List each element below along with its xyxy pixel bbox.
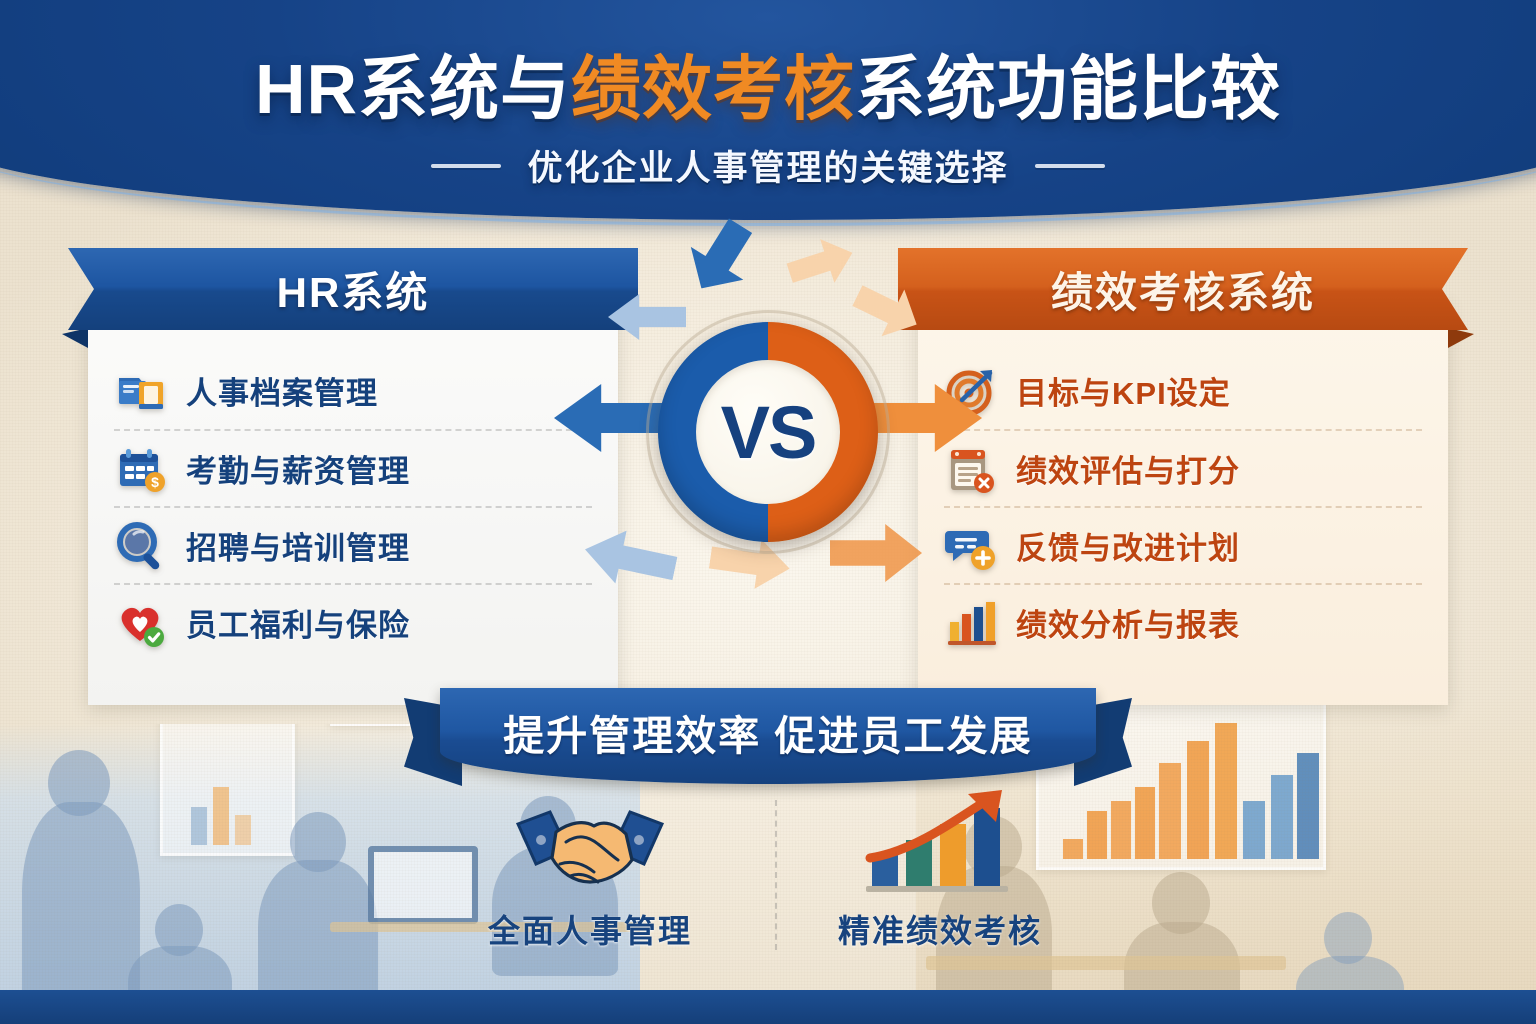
list-item[interactable]: 目标与KPI设定 xyxy=(944,352,1422,429)
feature-hr-management[interactable]: 全面人事管理 xyxy=(440,790,740,952)
hr-system-feature-list: 人事档案管理 $ xyxy=(88,352,618,660)
chart-bar xyxy=(1297,753,1319,859)
poster-bar xyxy=(235,815,251,845)
hr-system-ribbon-label: HR系统 xyxy=(277,259,430,320)
list-item-label: 人事档案管理 xyxy=(186,368,378,413)
folder-files-icon xyxy=(114,364,168,418)
chart-bar xyxy=(1111,801,1131,859)
feature-label: 精准绩效考核 xyxy=(790,906,1090,952)
feature-performance-review[interactable]: 精准绩效考核 xyxy=(790,790,1090,952)
hr-system-panel: HR系统 人事档案管理 xyxy=(88,300,618,705)
list-item-label: 绩效分析与报表 xyxy=(1016,600,1240,645)
bottom-strip xyxy=(0,990,1536,1024)
list-item-label: 员工福利与保险 xyxy=(186,600,410,645)
poster-bar xyxy=(213,787,229,845)
vs-comparison-center: VS xyxy=(578,232,958,702)
calendar-salary-icon: $ xyxy=(114,442,168,496)
banner-label: 提升管理效率 促进员工发展 xyxy=(440,702,1096,762)
list-item-label: 反馈与改进计划 xyxy=(1016,523,1240,568)
list-item[interactable]: $ 考勤与薪资管理 xyxy=(114,429,592,506)
list-item[interactable]: 绩效分析与报表 xyxy=(944,583,1422,660)
list-item[interactable]: 绩效评估与打分 xyxy=(944,429,1422,506)
title-highlight: 绩效考核 xyxy=(571,50,855,128)
performance-feature-list: 目标与KPI设定 xyxy=(918,352,1448,660)
ribbon-tail-icon xyxy=(62,328,88,348)
growth-chart-icon xyxy=(790,790,1090,894)
feature-divider xyxy=(775,800,777,950)
subtitle-row: 优化企业人事管理的关键选择 xyxy=(0,140,1536,191)
arrow-blue-up-left-icon xyxy=(675,209,767,305)
person-body xyxy=(258,860,378,1010)
list-item[interactable]: 反馈与改进计划 xyxy=(944,506,1422,583)
wall-poster-1 xyxy=(160,724,295,856)
feature-label: 全面人事管理 xyxy=(440,906,740,952)
performance-system-ribbon: 绩效考核系统 xyxy=(898,248,1468,330)
magnifier-icon xyxy=(114,519,168,573)
rule-right-icon xyxy=(1035,164,1105,168)
chart-bar xyxy=(1187,741,1209,859)
meeting-table xyxy=(926,956,1286,970)
performance-system-panel: 绩效考核系统 目标与KPI设定 xyxy=(918,300,1448,705)
arrow-lightblue-down-icon xyxy=(579,523,680,595)
title-part-1: HR系统与 xyxy=(255,50,571,128)
arrow-orange-right-icon xyxy=(846,272,928,348)
heart-check-icon xyxy=(114,596,168,650)
arrow-lightblue-left-icon xyxy=(608,294,686,340)
hr-system-ribbon: HR系统 xyxy=(68,248,638,330)
svg-text:$: $ xyxy=(151,474,159,490)
performance-system-ribbon-label: 绩效考核系统 xyxy=(1051,259,1315,320)
rule-left-icon xyxy=(431,164,501,168)
list-item-label: 绩效评估与打分 xyxy=(1016,446,1240,491)
chart-bar xyxy=(1243,801,1265,859)
chart-bar xyxy=(1271,775,1293,859)
list-item-label: 目标与KPI设定 xyxy=(1016,368,1231,413)
wall-poster-2 xyxy=(330,724,410,726)
chart-bar xyxy=(1135,787,1155,859)
ribbon-tail-icon xyxy=(1448,328,1474,348)
list-item-label: 考勤与薪资管理 xyxy=(186,446,410,491)
title-part-2: 系统功能比较 xyxy=(855,50,1281,128)
page-title: HR系统与绩效考核系统功能比较 xyxy=(0,33,1536,134)
list-item[interactable]: 招聘与培训管理 xyxy=(114,506,592,583)
bottom-banner: 提升管理效率 促进员工发展 xyxy=(404,688,1132,800)
infographic-canvas: HR系统与绩效考核系统功能比较 优化企业人事管理的关键选择 HR系统 xyxy=(0,0,1536,1024)
person-body xyxy=(22,802,140,1002)
vs-inner-circle: VS xyxy=(696,360,840,504)
list-item-label: 招聘与培训管理 xyxy=(186,523,410,568)
chart-bar xyxy=(1159,763,1181,859)
list-item[interactable]: 人事档案管理 xyxy=(114,352,592,429)
page-subtitle: 优化企业人事管理的关键选择 xyxy=(527,140,1008,191)
vs-badge: VS xyxy=(658,322,878,542)
vs-label: VS xyxy=(721,390,816,475)
chart-bar xyxy=(1215,723,1237,859)
handshake-icon xyxy=(440,790,740,894)
list-item[interactable]: 员工福利与保险 xyxy=(114,583,592,660)
poster-bar xyxy=(191,807,207,845)
arrow-orange-up-right-icon xyxy=(783,231,860,295)
chart-bar xyxy=(1087,811,1107,859)
arrow-orange-lower-icon xyxy=(830,524,922,582)
